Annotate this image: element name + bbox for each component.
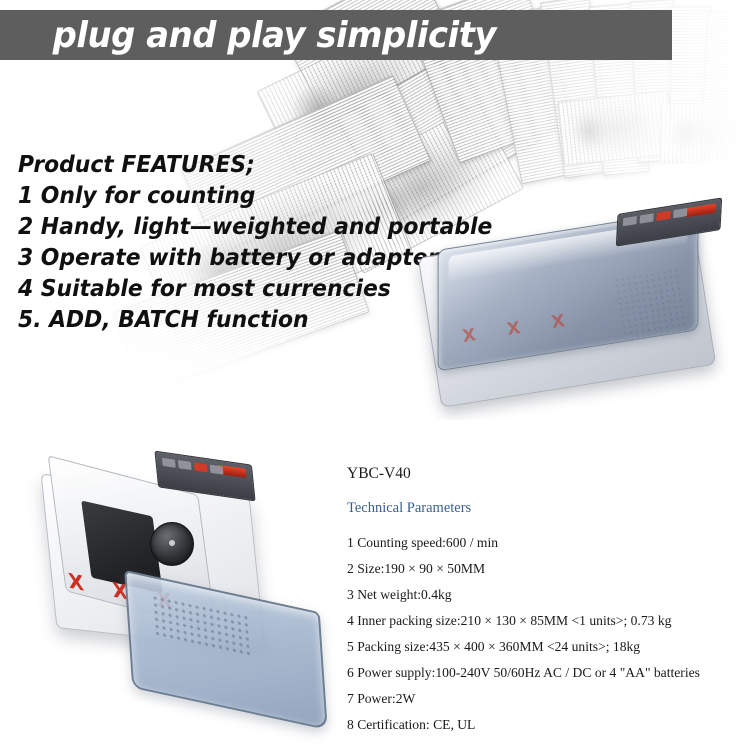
keypad-key [656,211,670,221]
product-marketing-image: plug and play simplicity Product FEATURE… [0,0,750,750]
spec-item-8: 8 Certification: CE, UL [347,712,743,738]
lower-section: X X X YBC-V40 Technical Parameters 1 Cou… [0,440,750,750]
keypad-key [210,465,224,475]
features-heading: Product FEATURES; [18,150,474,181]
model-number: YBC-V40 [347,465,743,483]
feature-item-1: 1 Only for counting [18,181,474,212]
spec-item-2: 2 Size:190 × 90 × 50MM [347,556,743,582]
feature-item-3: 3 Operate with battery or adapter [18,243,474,274]
bill-tray [124,570,328,730]
spec-item-4: 4 Inner packing size:210 × 130 × 85MM <1… [347,608,743,634]
specs-heading: Technical Parameters [347,500,743,517]
spec-item-7: 7 Power:2W [347,686,743,712]
feature-item-4: 4 Suitable for most currencies [18,274,474,305]
spec-item-1: 1 Counting speed:600 / min [347,530,743,556]
headline-text: plug and play simplicity [0,15,496,56]
keypad-key [623,216,637,226]
led-display [686,203,716,217]
keypad-key [162,458,176,468]
hero-section: plug and play simplicity Product FEATURE… [0,0,750,420]
feature-item-2: 2 Handy, light—weighted and portable [18,212,474,243]
product-photo-closed-unit: X X X [410,200,740,420]
spec-item-6: 6 Power supply:100-240V 50/60Hz AC / DC … [347,660,743,686]
keypad [162,458,224,475]
feature-item-5: 5. ADD, BATCH function [18,305,474,336]
spec-item-3: 3 Net weight:0.4kg [347,582,743,608]
keypad [623,208,688,226]
feed-roller-knob [150,522,194,566]
specifications-panel: YBC-V40 Technical Parameters 1 Counting … [347,465,743,738]
keypad-key [178,460,192,470]
keypad-key [194,462,208,472]
tray-perforations [151,594,250,658]
keypad-key [640,213,654,223]
headline-banner: plug and play simplicity [0,10,672,60]
spec-item-5: 5 Packing size:435 × 400 × 360MM <24 uni… [347,634,743,660]
product-photo-open-unit: X X X [10,450,340,740]
